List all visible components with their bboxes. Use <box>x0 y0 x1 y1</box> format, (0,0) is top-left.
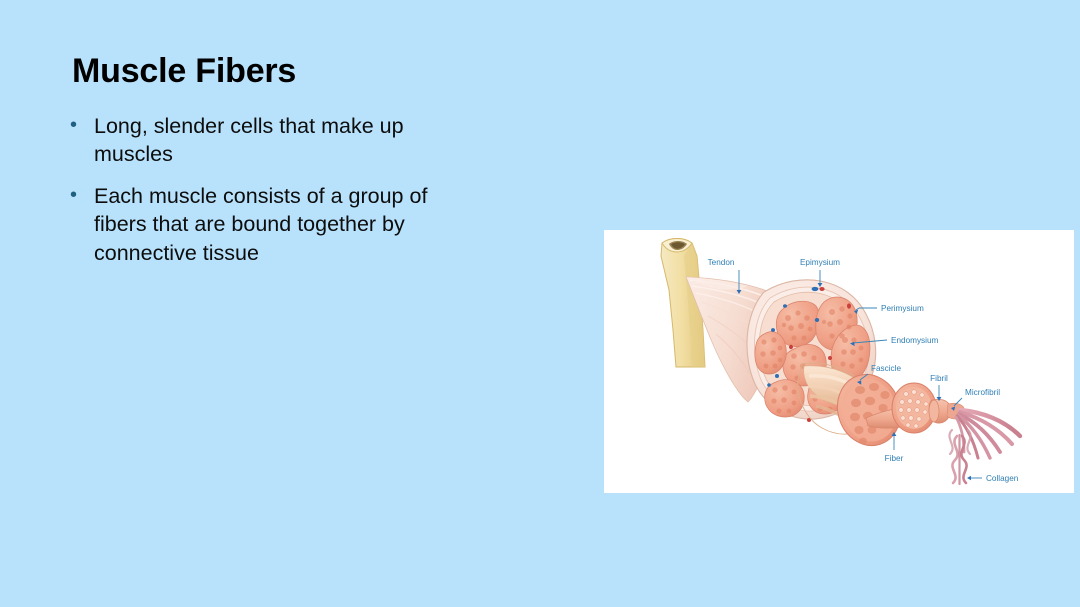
page-title: Muscle Fibers <box>72 53 296 90</box>
label-microfibril: Microfibril <box>965 388 1000 397</box>
bullet-list: • Long, slender cells that make up muscl… <box>62 112 432 280</box>
list-item: • Long, slender cells that make up muscl… <box>62 112 432 169</box>
bullet-point-icon: • <box>70 112 77 138</box>
label-epimysium: Epimysium <box>800 258 840 267</box>
list-item-text: Long, slender cells that make up muscles <box>94 112 432 169</box>
bullet-point-icon: • <box>70 182 77 208</box>
label-collagen: Collagen <box>986 474 1019 483</box>
label-fascicle: Fascicle <box>871 364 901 373</box>
muscle-structure-image: Tendon Epimysium Perimysium Endomysium F… <box>604 230 1074 493</box>
slide-canvas: Muscle Fibers • Long, slender cells that… <box>0 0 1080 607</box>
label-fiber: Fiber <box>885 454 904 463</box>
list-item: • Each muscle consists of a group of fib… <box>62 182 432 267</box>
label-perimysium: Perimysium <box>881 304 924 313</box>
muscle-structure-svg: Tendon Epimysium Perimysium Endomysium F… <box>604 230 1074 493</box>
label-endomysium: Endomysium <box>891 336 939 345</box>
label-tendon: Tendon <box>708 258 735 267</box>
label-fibril: Fibril <box>930 374 948 383</box>
list-item-text: Each muscle consists of a group of fiber… <box>94 182 432 267</box>
